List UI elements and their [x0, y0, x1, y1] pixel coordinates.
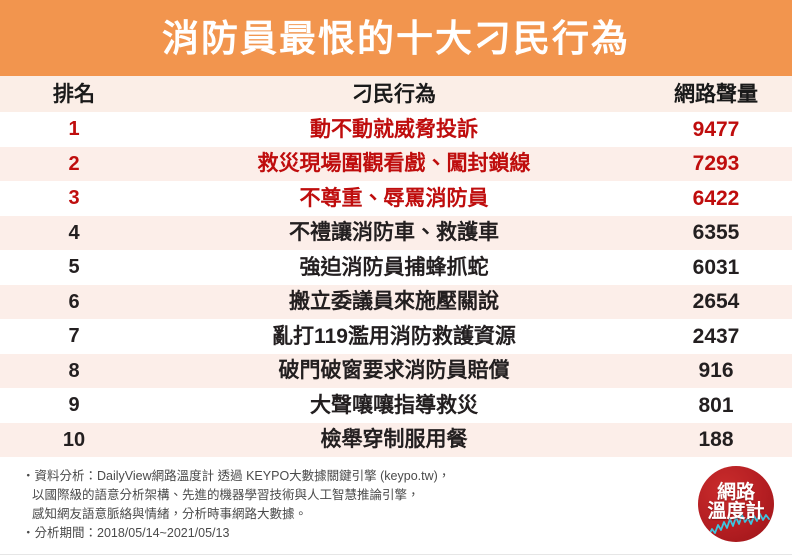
footnote-method-line-2: 感知網友語意脈絡與情緒，分析時事網路大數據。: [22, 505, 622, 524]
cell-rank: 2: [0, 147, 148, 182]
cell-rank: 9: [0, 388, 148, 423]
cell-item: 搬立委議員來施壓關說: [148, 285, 640, 320]
cell-item: 檢舉穿制服用餐: [148, 423, 640, 458]
cell-volume: 6031: [640, 250, 792, 285]
footnote-period-line: ・分析期間：2018/05/14~2021/05/13: [22, 524, 622, 543]
column-header-rank: 排名: [0, 76, 148, 112]
cell-rank: 1: [0, 112, 148, 147]
logo-label: 網路 溫度計: [698, 466, 774, 542]
column-header-item: 刁民行為: [148, 76, 640, 112]
cell-item: 亂打119濫用消防救護資源: [148, 319, 640, 354]
footnote-block: ・資料分析：DailyView網路溫度計 透過 KEYPO大數據關鍵引擎 (ke…: [22, 467, 622, 543]
cell-item: 大聲嚷嚷指導救災: [148, 388, 640, 423]
footnote-method-line-1: 以國際級的語意分析架構、先進的機器學習技術與人工智慧推論引擎，: [22, 486, 622, 505]
cell-volume: 6355: [640, 216, 792, 251]
dailyview-logo: 網路 溫度計: [698, 466, 774, 542]
table-row: 3 不尊重、辱罵消防員 6422: [0, 181, 792, 216]
table-header-row: 排名 刁民行為 網路聲量: [0, 76, 792, 112]
cell-volume: 6422: [640, 181, 792, 216]
table-body: 1 動不動就威脅投訴 9477 2 救災現場圍觀看戲、闖封鎖線 7293 3 不…: [0, 112, 792, 457]
cell-rank: 8: [0, 354, 148, 389]
table-row: 8 破門破窗要求消防員賠償 916: [0, 354, 792, 389]
cell-volume: 9477: [640, 112, 792, 147]
table-row: 6 搬立委議員來施壓關說 2654: [0, 285, 792, 320]
cell-volume: 2654: [640, 285, 792, 320]
ranking-table: 排名 刁民行為 網路聲量 1 動不動就威脅投訴 9477 2 救災現場圍觀看戲、…: [0, 76, 792, 457]
cell-item: 動不動就威脅投訴: [148, 112, 640, 147]
cell-rank: 3: [0, 181, 148, 216]
logo-circle: 網路 溫度計: [698, 466, 774, 542]
logo-label-line-2: 溫度計: [707, 502, 764, 521]
table-row: 10 檢舉穿制服用餐 188: [0, 423, 792, 458]
column-header-volume: 網路聲量: [640, 76, 792, 112]
cell-rank: 10: [0, 423, 148, 458]
cell-volume: 801: [640, 388, 792, 423]
cell-item: 強迫消防員捕蜂抓蛇: [148, 250, 640, 285]
cell-volume: 188: [640, 423, 792, 458]
footer: ・資料分析：DailyView網路溫度計 透過 KEYPO大數據關鍵引擎 (ke…: [0, 457, 792, 555]
table-row: 7 亂打119濫用消防救護資源 2437: [0, 319, 792, 354]
cell-rank: 4: [0, 216, 148, 251]
cell-item: 不禮讓消防車、救護車: [148, 216, 640, 251]
footnote-source-line: ・資料分析：DailyView網路溫度計 透過 KEYPO大數據關鍵引擎 (ke…: [22, 467, 622, 486]
table-row: 9 大聲嚷嚷指導救災 801: [0, 388, 792, 423]
cell-rank: 6: [0, 285, 148, 320]
table-row: 5 強迫消防員捕蜂抓蛇 6031: [0, 250, 792, 285]
cell-rank: 7: [0, 319, 148, 354]
cell-item: 救災現場圍觀看戲、闖封鎖線: [148, 147, 640, 182]
cell-item: 不尊重、辱罵消防員: [148, 181, 640, 216]
title-banner: 消防員最恨的十大刁民行為: [0, 0, 792, 76]
table-row: 2 救災現場圍觀看戲、闖封鎖線 7293: [0, 147, 792, 182]
table-head: 排名 刁民行為 網路聲量: [0, 76, 792, 112]
cell-volume: 2437: [640, 319, 792, 354]
logo-label-line-1: 網路: [717, 483, 755, 502]
cell-volume: 7293: [640, 147, 792, 182]
cell-volume: 916: [640, 354, 792, 389]
table-row: 1 動不動就威脅投訴 9477: [0, 112, 792, 147]
cell-rank: 5: [0, 250, 148, 285]
cell-item: 破門破窗要求消防員賠償: [148, 354, 640, 389]
page-title: 消防員最恨的十大刁民行為: [162, 20, 630, 57]
table-row: 4 不禮讓消防車、救護車 6355: [0, 216, 792, 251]
infographic-root: 消防員最恨的十大刁民行為 排名 刁民行為 網路聲量 1 動不動就威脅投訴 947…: [0, 0, 792, 555]
